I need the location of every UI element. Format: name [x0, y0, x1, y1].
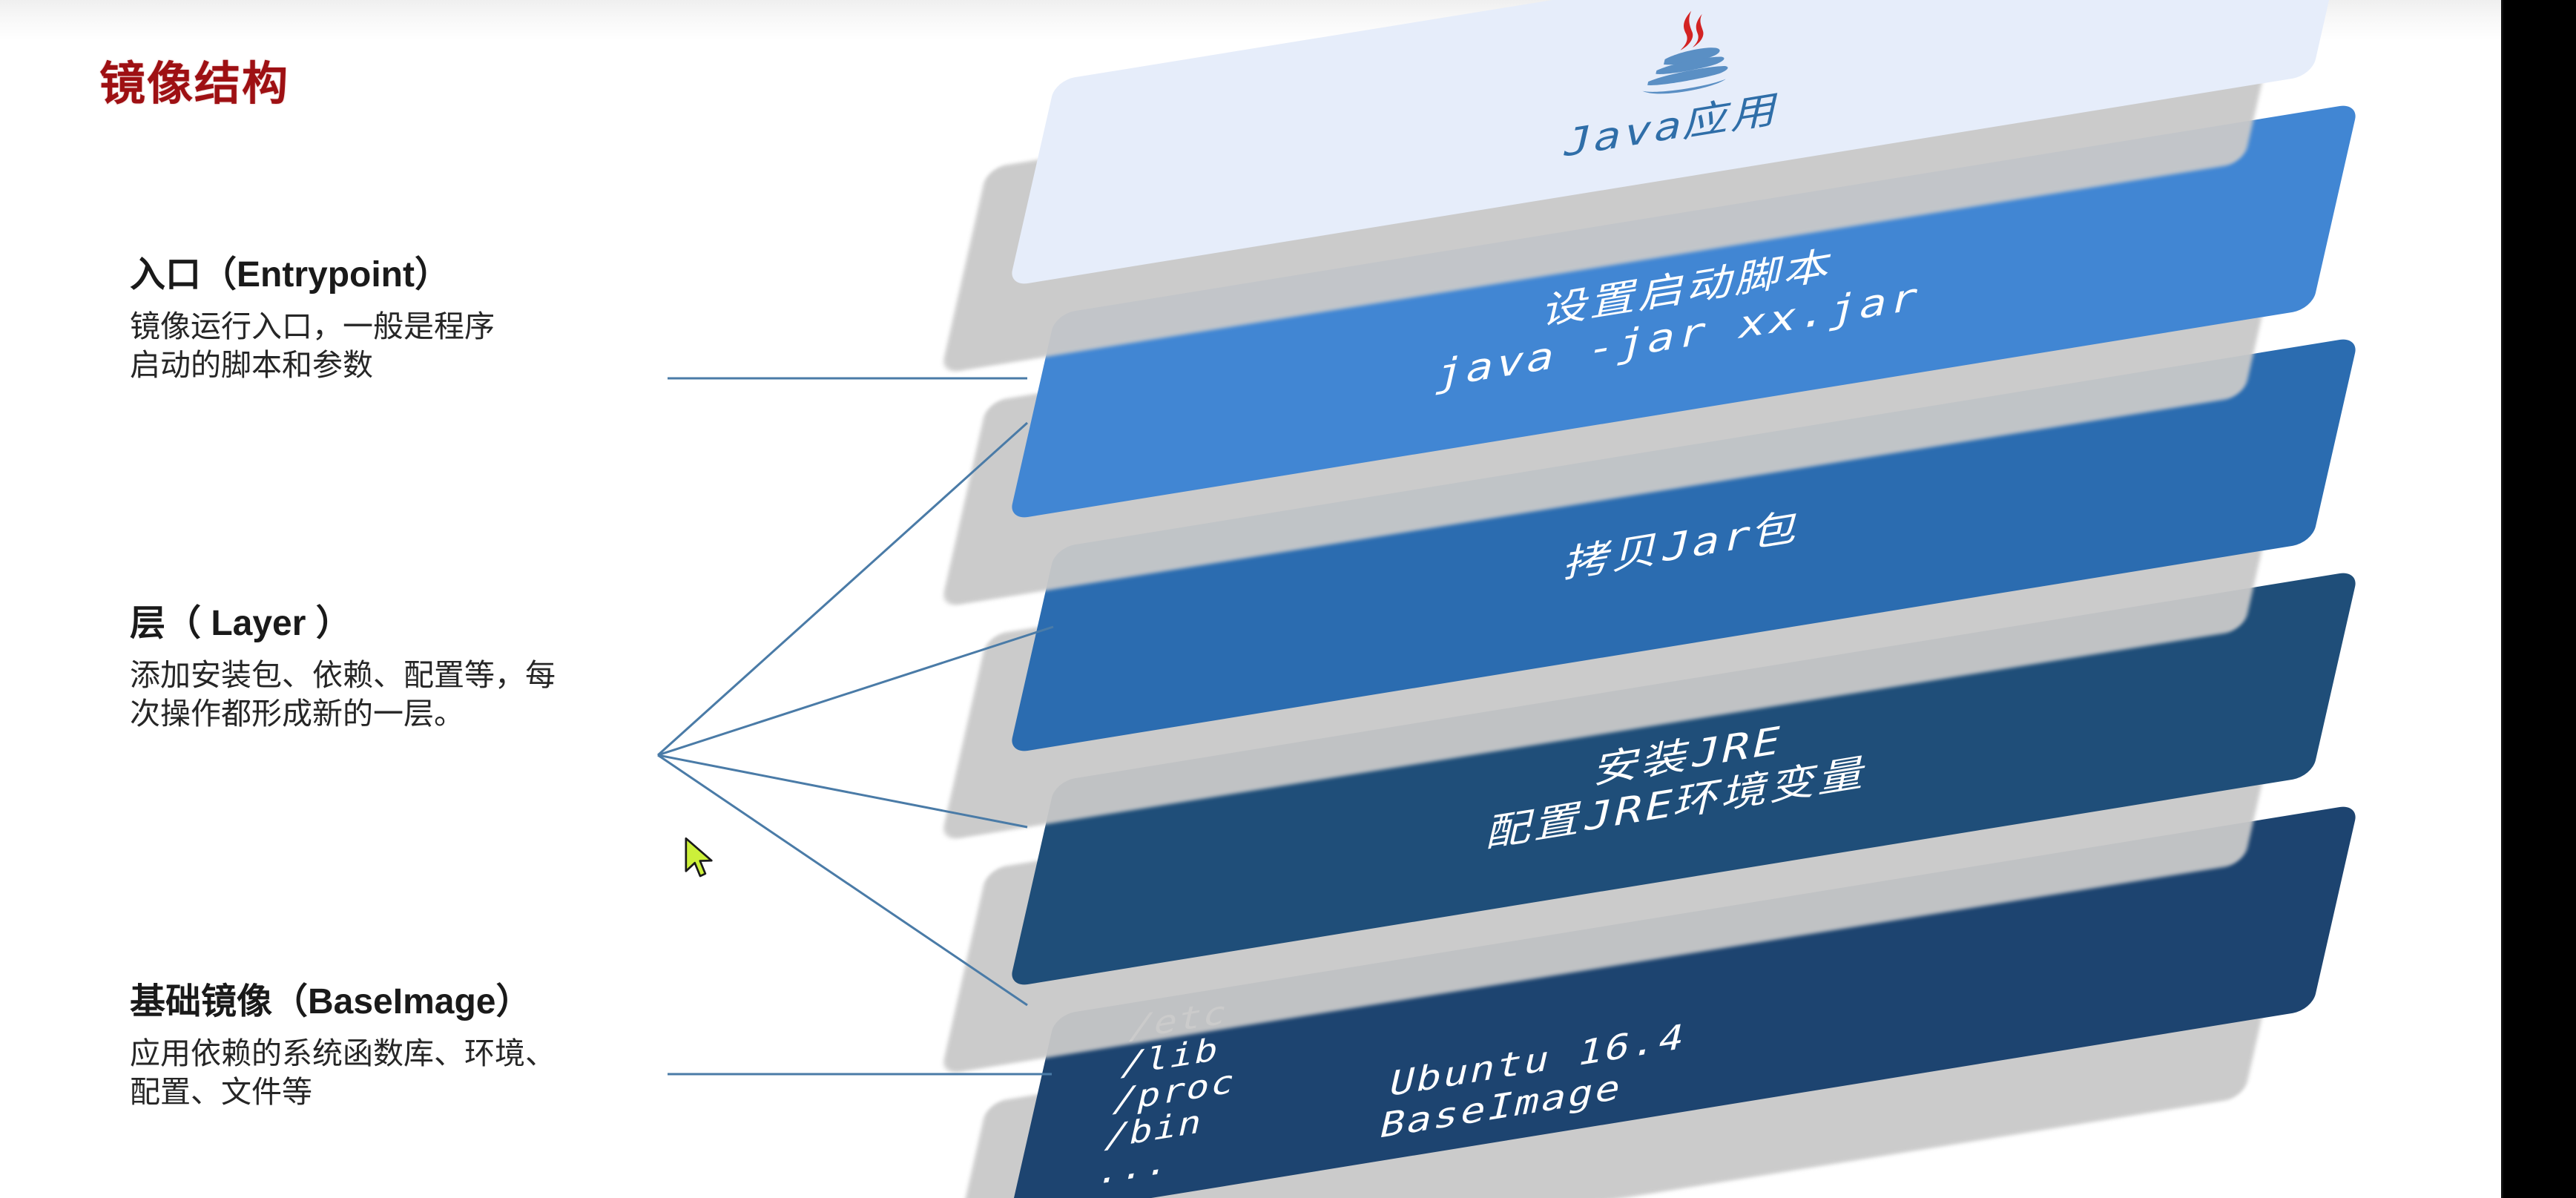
arrow-pointer-icon [686, 838, 712, 876]
letterbox-right [2501, 0, 2576, 1198]
slide-canvas: 镜像结构 入口（Entrypoint） 镜像运行入口，一般是程序 启动的脚本和参… [0, 0, 2501, 1198]
image-layer-stack: /etc /lib /proc /bin ... Ubuntu 16.4 Bas… [0, 0, 2501, 1198]
letterbox-edge [2501, 0, 2503, 1198]
mouse-cursor [683, 837, 717, 883]
java-application-layer: Java应用 [1024, 0, 2344, 200]
copy-jar-line-1: 拷贝Jar包 [1561, 502, 1807, 588]
